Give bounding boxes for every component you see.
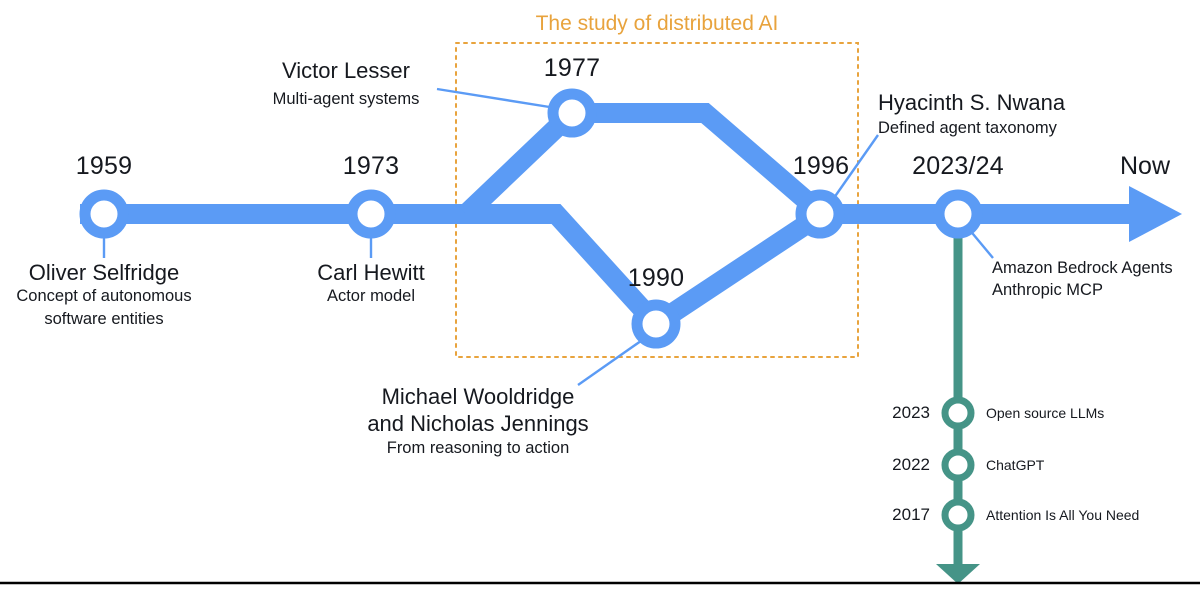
node-1973[interactable] — [352, 195, 390, 233]
sub-node-2023[interactable] — [945, 400, 971, 426]
person-label-1990-line1: Michael Wooldridge — [348, 384, 608, 410]
person-label-1973: Carl Hewitt — [281, 260, 461, 286]
description-1977-line1: Multi-agent systems — [246, 90, 446, 109]
year-label-1977: 1977 — [512, 54, 632, 84]
description-1959-line2: software entities — [2, 310, 206, 329]
timeline-diagram: The study of distributed AI 1959 Oliver … — [0, 0, 1200, 592]
sub-year-2023: 2023 — [830, 403, 930, 423]
person-label-1977: Victor Lesser — [246, 58, 446, 84]
description-1973-line1: Actor model — [281, 287, 461, 306]
sub-node-2022[interactable] — [945, 452, 971, 478]
sub-year-2017: 2017 — [830, 505, 930, 525]
highlight-box-title: The study of distributed AI — [456, 12, 858, 36]
description-1996-line1: Defined agent taxonomy — [878, 119, 1057, 138]
node-1990[interactable] — [637, 305, 675, 343]
sub-node-2017[interactable] — [945, 502, 971, 528]
sub-event-2022: ChatGPT — [986, 457, 1044, 474]
year-label-1990: 1990 — [596, 264, 716, 294]
person-label-1959: Oliver Selfridge — [4, 260, 204, 286]
leader-line-1990 — [578, 336, 648, 385]
main-axis-arrowhead-icon — [1129, 186, 1182, 242]
now-label: Now — [1095, 152, 1195, 182]
sub-year-2022: 2022 — [830, 455, 930, 475]
sub-timeline-arrowhead-icon — [936, 564, 980, 584]
description-1959-line1: Concept of autonomous — [2, 287, 206, 306]
person-label-1996: Hyacinth S. Nwana — [878, 90, 1065, 116]
node-2023-24[interactable] — [939, 195, 977, 233]
description-2023-24-line1: Amazon Bedrock Agents — [992, 259, 1173, 278]
year-label-1959: 1959 — [44, 152, 164, 182]
sub-event-2017: Attention Is All You Need — [986, 507, 1139, 524]
node-1996[interactable] — [801, 195, 839, 233]
node-1959[interactable] — [85, 195, 123, 233]
node-1977[interactable] — [553, 94, 591, 132]
sub-event-2023: Open source LLMs — [986, 405, 1104, 422]
description-1990-line1: From reasoning to action — [348, 439, 608, 458]
year-label-1973: 1973 — [311, 152, 431, 182]
description-2023-24-line2: Anthropic MCP — [992, 281, 1103, 300]
year-label-2023-24: 2023/24 — [893, 152, 1023, 182]
year-label-1996: 1996 — [761, 152, 881, 182]
person-label-1990-line2: and Nicholas Jennings — [348, 411, 608, 437]
